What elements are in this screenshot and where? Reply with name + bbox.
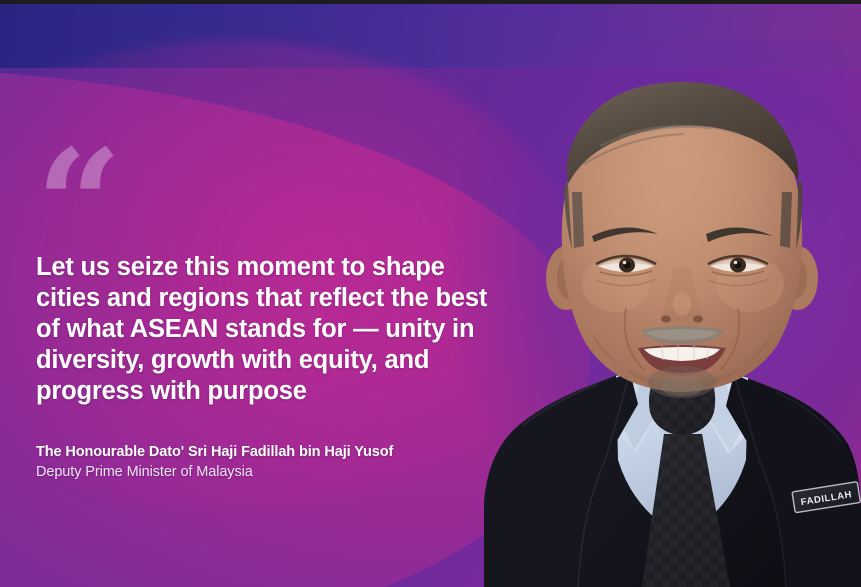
attribution-role: Deputy Prime Minister of Malaysia bbox=[36, 463, 476, 482]
quote-text: Let us seize this moment to shape cities… bbox=[36, 252, 488, 407]
chin-stubble bbox=[648, 366, 716, 398]
attribution: The Honourable Dato' Sri Haji Fadillah b… bbox=[36, 443, 476, 482]
attribution-name: The Honourable Dato' Sri Haji Fadillah b… bbox=[36, 443, 476, 462]
quote-slide: FADILLAH bbox=[0, 0, 861, 587]
top-dark-bar bbox=[0, 0, 861, 4]
quote-content: “ Let us seize this moment to shape citi… bbox=[0, 68, 500, 587]
